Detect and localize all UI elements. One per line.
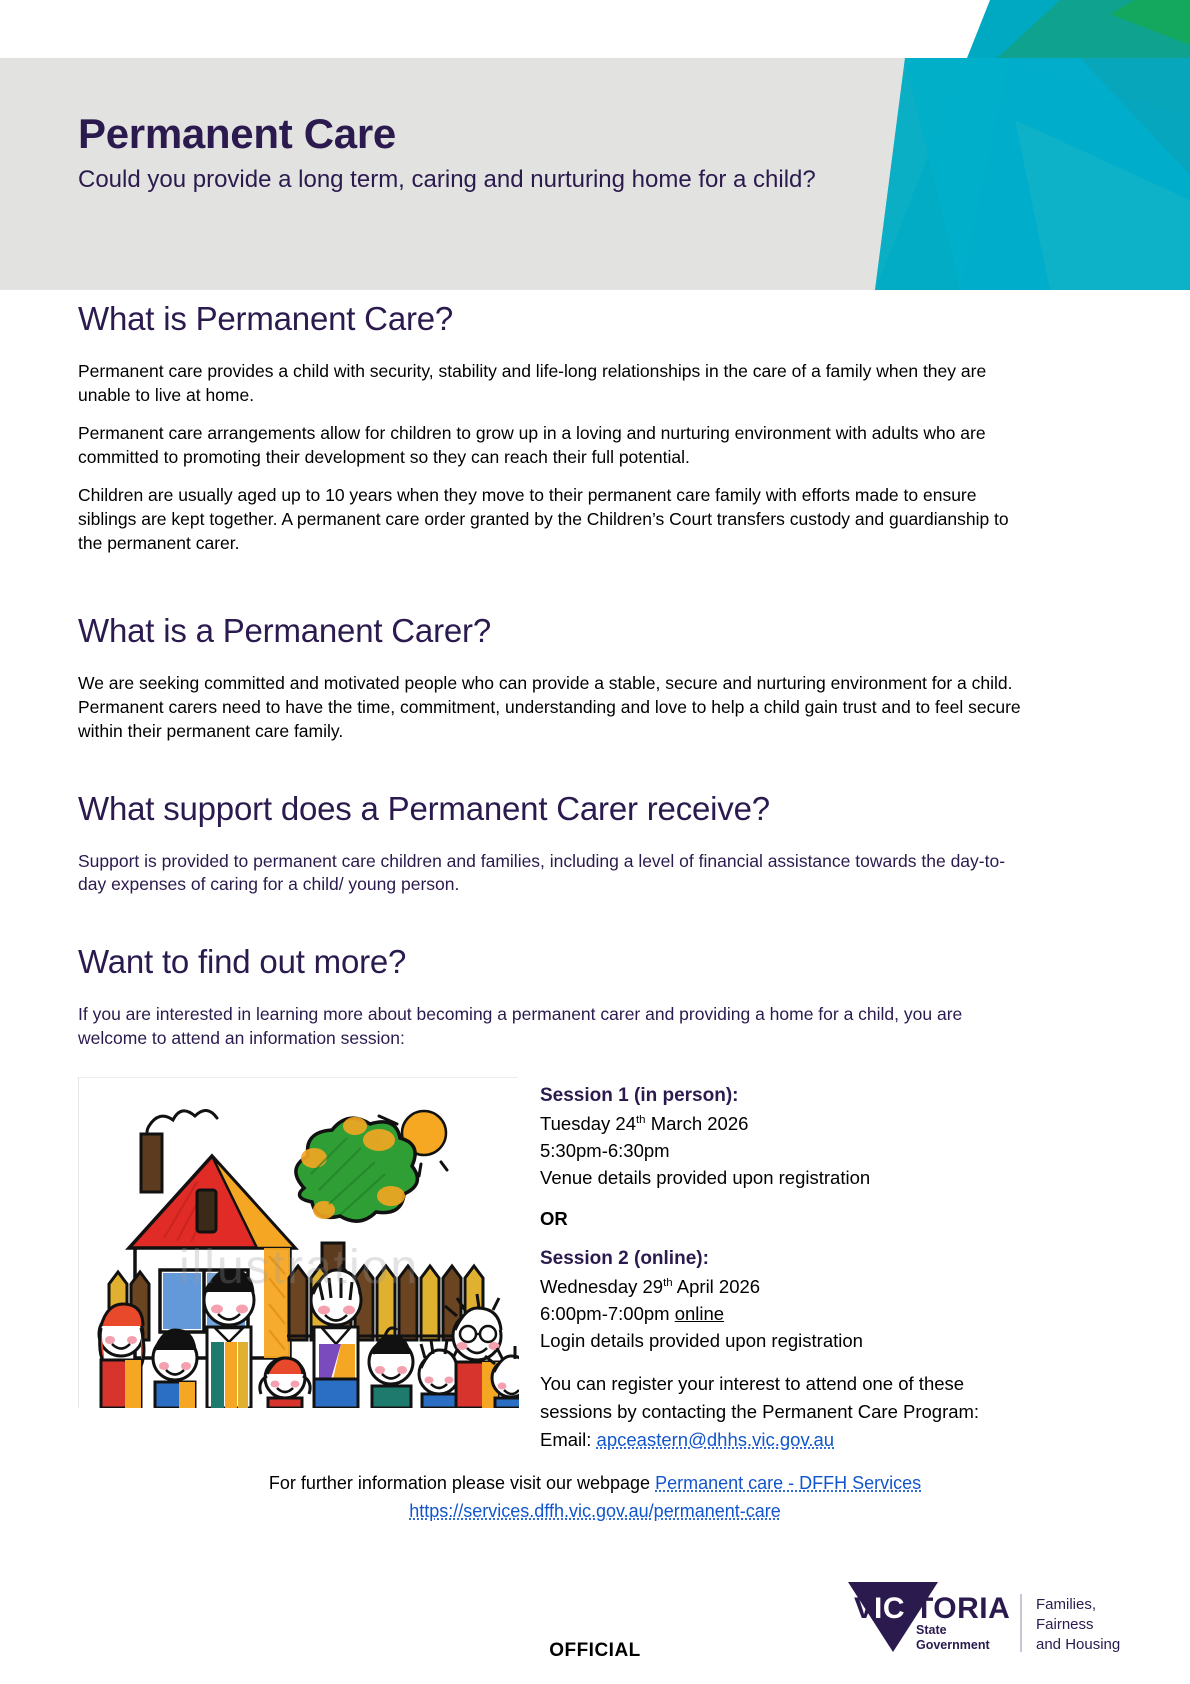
svg-text:and Housing: and Housing [1036,1636,1120,1653]
session-2-online-link[interactable]: online [675,1303,724,1324]
svg-text:Families,: Families, [1036,1596,1096,1613]
session-details: Session 1 (in person): Tuesday 24th Marc… [518,1077,1028,1453]
session-row: illustration Session 1 (in person): Tues… [78,1077,1028,1453]
permanent-care-url-link[interactable]: https://services.dffh.vic.gov.au/permane… [409,1501,781,1521]
svg-text:TORIA: TORIA [915,1592,1010,1625]
paragraph: Permanent care provides a child with sec… [78,360,1028,408]
section-want-to-find-out-more: Want to find out more? If you are intere… [78,943,1028,1051]
crayon-family-drawing-icon: illustration [79,1078,519,1408]
webpage-url-line: https://services.dffh.vic.gov.au/permane… [0,1498,1190,1526]
heading-what-is-permanent-care: What is Permanent Care? [78,300,1028,338]
page-subtitle: Could you provide a long term, caring an… [78,164,838,196]
session-1-venue: Venue details provided upon registration [540,1165,1028,1192]
paragraph: Children are usually aged up to 10 years… [78,484,1028,556]
svg-text:V: V [854,1592,875,1625]
further-info-prefix: For further information please visit our… [269,1473,655,1493]
session-1-title: Session 1 (in person): [540,1083,1028,1109]
vic-gov-logo-icon: V IC TORIA State Government Families, Fa… [838,1574,1138,1664]
email-label: Email: [540,1429,597,1450]
session-2-block: Session 2 (online): Wednesday 29th April… [540,1246,1028,1354]
email-link[interactable]: apceastern@dhhs.vic.gov.au [597,1429,835,1450]
dffh-services-link[interactable]: Permanent care - DFFH Services [655,1473,921,1493]
session-1-date-suffix: March 2026 [646,1113,749,1134]
further-info-line: For further information please visit our… [0,1470,1190,1498]
victoria-government-logo: V IC TORIA State Government Families, Fa… [838,1574,1138,1664]
session-2-time-text: 6:00pm-7:00pm [540,1303,675,1324]
session-2-date-ordinal: th [663,1277,673,1289]
svg-text:IC: IC [874,1592,905,1625]
register-line-2: sessions by contacting the Permanent Car… [540,1398,1028,1426]
header-banner: Permanent Care Could you provide a long … [0,0,1190,290]
paragraph: If you are interested in learning more a… [78,1003,1028,1051]
section-what-is-a-permanent-carer: What is a Permanent Carer? We are seekin… [78,612,1028,744]
footer-links: For further information please visit our… [0,1470,1190,1526]
main-content: What is Permanent Care? Permanent care p… [78,300,1028,1454]
register-email-line: Email: apceastern@dhhs.vic.gov.au [540,1426,1028,1454]
heading-what-is-a-permanent-carer: What is a Permanent Carer? [78,612,1028,650]
session-2-time: 6:00pm-7:00pm online [540,1301,1028,1328]
heading-want-to-find-out-more: Want to find out more? [78,943,1028,981]
page-title: Permanent Care [78,112,838,156]
svg-text:Government: Government [916,1638,990,1652]
svg-text:State: State [916,1623,947,1637]
paragraph: Permanent care arrangements allow for ch… [78,422,1028,470]
paragraph: We are seeking committed and motivated p… [78,672,1028,744]
section-what-support: What support does a Permanent Carer rece… [78,790,1028,898]
svg-text:illustration: illustration [179,1241,419,1294]
session-1-date-prefix: Tuesday 24 [540,1113,636,1134]
session-2-title: Session 2 (online): [540,1246,1028,1272]
paragraph: Support is provided to permanent care ch… [78,850,1028,898]
session-1-date: Tuesday 24th March 2026 [540,1111,1028,1138]
session-1-date-ordinal: th [636,1114,646,1126]
session-2-date-prefix: Wednesday 29 [540,1276,663,1297]
section-what-is-permanent-care: What is Permanent Care? Permanent care p… [78,300,1028,556]
session-2-date: Wednesday 29th April 2026 [540,1274,1028,1301]
or-separator: OR [540,1206,1028,1232]
session-2-login: Login details provided upon registration [540,1328,1028,1355]
session-2-date-suffix: April 2026 [673,1276,760,1297]
heading-what-support: What support does a Permanent Carer rece… [78,790,1028,828]
family-drawing-image: illustration [78,1077,518,1408]
svg-text:Fairness: Fairness [1036,1616,1094,1633]
register-line-1: You can register your interest to attend… [540,1370,1028,1398]
session-1-time: 5:30pm-6:30pm [540,1138,1028,1165]
register-interest-block: You can register your interest to attend… [540,1370,1028,1453]
